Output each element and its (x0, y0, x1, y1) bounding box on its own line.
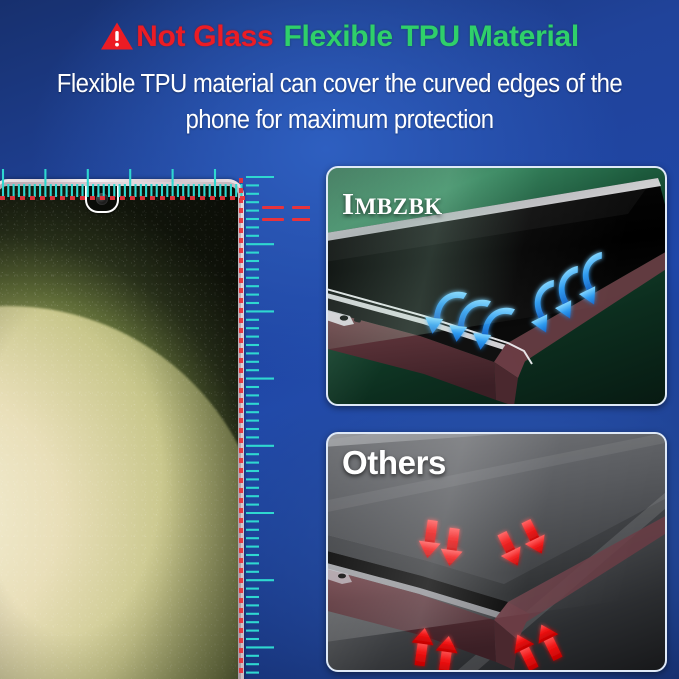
ruler-right (245, 174, 277, 679)
callout-dash (262, 206, 284, 209)
phone-measurement-panel (0, 152, 310, 679)
callout-dash (292, 206, 310, 209)
phone-screen (0, 186, 238, 679)
red-dashed-measurement-line-right (239, 178, 243, 678)
ruler-top (0, 166, 245, 198)
comparison-panel-others: Others (326, 432, 667, 672)
headline: Not GlassFlexible TPU Material (0, 18, 679, 56)
comparison-panel-imbzbk: IMBZBK (326, 166, 667, 406)
phone-device (0, 179, 244, 679)
subtitle-line-1: Flexible TPU material can cover the curv… (37, 66, 641, 102)
callout-dash (262, 218, 284, 221)
panel-label-imbzbk: IMBZBK (342, 174, 443, 225)
product-image-root: Not GlassFlexible TPU Material Flexible … (0, 0, 679, 679)
red-dashed-measurement-line-top (0, 196, 247, 200)
headline-not-glass: Not Glass (136, 20, 273, 53)
wallpaper-vignette (0, 186, 238, 679)
subtitle-line-2: phone for maximum protection (37, 102, 641, 138)
subtitle: Flexible TPU material can cover the curv… (37, 66, 641, 138)
headline-flexible-tpu: Flexible TPU Material (283, 20, 578, 53)
callout-dash (292, 218, 310, 221)
header-banner: Not GlassFlexible TPU Material Flexible … (0, 0, 679, 152)
panel-label-others: Others (342, 444, 446, 482)
warning-triangle-icon (100, 21, 134, 51)
